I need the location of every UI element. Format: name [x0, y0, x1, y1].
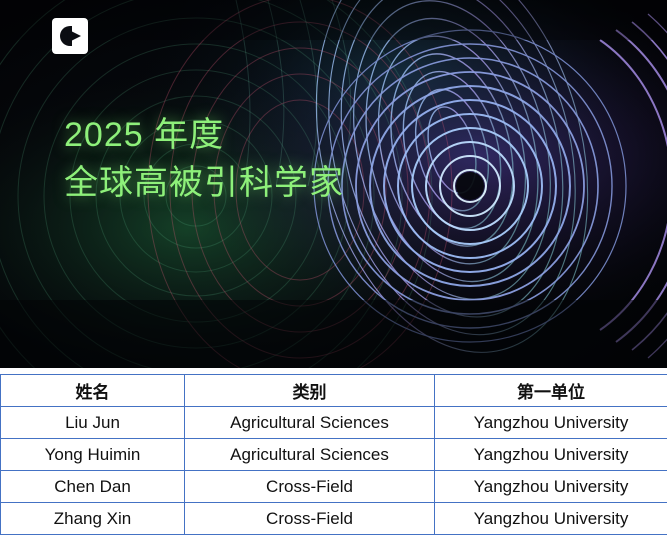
- cell-category: Cross-Field: [185, 471, 435, 503]
- column-header-affiliation: 第一单位: [435, 375, 667, 407]
- cell-affiliation: Yangzhou University: [435, 503, 667, 535]
- table-row: Yong Huimin Agricultural Sciences Yangzh…: [1, 439, 667, 471]
- cell-name: Liu Jun: [1, 407, 185, 439]
- cell-category: Cross-Field: [185, 503, 435, 535]
- cell-name: Chen Dan: [1, 471, 185, 503]
- cell-affiliation: Yangzhou University: [435, 471, 667, 503]
- table-row: Chen Dan Cross-Field Yangzhou University: [1, 471, 667, 503]
- table-row: Zhang Xin Cross-Field Yangzhou Universit…: [1, 503, 667, 535]
- hero-title-year: 2025 年度: [64, 116, 344, 154]
- hero-title-block: 2025 年度 全球高被引科学家: [64, 116, 344, 202]
- play-badge-icon: [52, 18, 88, 54]
- cell-affiliation: Yangzhou University: [435, 407, 667, 439]
- hero-banner: 2025 年度 全球高被引科学家: [0, 0, 667, 368]
- column-header-category: 类别: [185, 375, 435, 407]
- table-row: Liu Jun Agricultural Sciences Yangzhou U…: [1, 407, 667, 439]
- cell-name: Zhang Xin: [1, 503, 185, 535]
- researchers-table-section: 姓名 类别 第一单位 Liu Jun Agricultural Sciences…: [0, 368, 667, 535]
- researchers-table: 姓名 类别 第一单位 Liu Jun Agricultural Sciences…: [0, 374, 667, 535]
- column-header-name: 姓名: [1, 375, 185, 407]
- table-header-row: 姓名 类别 第一单位: [1, 375, 667, 407]
- cell-category: Agricultural Sciences: [185, 407, 435, 439]
- cell-category: Agricultural Sciences: [185, 439, 435, 471]
- hero-title-main: 全球高被引科学家: [64, 164, 344, 202]
- cell-affiliation: Yangzhou University: [435, 439, 667, 471]
- cell-name: Yong Huimin: [1, 439, 185, 471]
